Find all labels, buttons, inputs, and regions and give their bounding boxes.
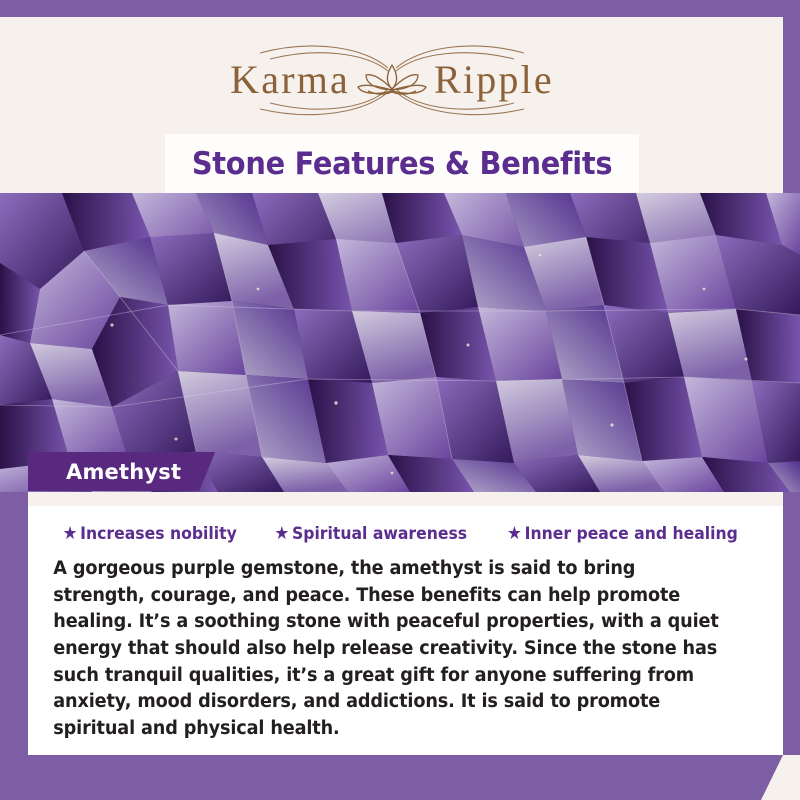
page-title: Stone Features & Benefits	[192, 146, 612, 182]
footer-bar	[0, 755, 800, 800]
benefit-label: Inner peace and healing	[525, 524, 738, 544]
section-title-bar: Stone Features & Benefits	[165, 134, 639, 193]
footer-bar-fill	[0, 755, 783, 800]
frame-right-border-upper	[783, 0, 800, 193]
benefit-item-0: ★ Increases nobility	[62, 524, 236, 544]
benefit-label: Spiritual awareness	[292, 524, 467, 544]
benefit-item-1: ★ Spiritual awareness	[274, 524, 467, 544]
stone-name-banner: Amethyst	[28, 452, 215, 491]
benefits-list: ★ Increases nobility ★ Spiritual awarene…	[38, 524, 765, 544]
product-info-card: Karma Ripple Stone Features & Benefits	[0, 0, 800, 800]
brand-name-left: Karma	[230, 57, 350, 102]
lotus-icon	[358, 65, 426, 94]
stone-name-label: Amethyst	[66, 460, 181, 484]
brand-logo-graphic: Karma Ripple	[182, 37, 602, 123]
photo-bottom-seam	[28, 492, 783, 506]
content-panel: ★ Increases nobility ★ Spiritual awarene…	[28, 506, 783, 755]
crystal-photo-graphic	[0, 193, 800, 492]
frame-left-border	[0, 492, 28, 800]
star-icon: ★	[508, 525, 523, 543]
star-icon: ★	[62, 525, 77, 543]
stone-description: A gorgeous purple gemstone, the amethyst…	[38, 556, 732, 742]
frame-right-border-lower	[783, 492, 800, 755]
amethyst-crystal-photo	[0, 193, 800, 492]
star-icon: ★	[274, 525, 289, 543]
brand-name-right: Ripple	[434, 57, 554, 102]
frame-top-border	[0, 0, 800, 17]
benefit-label: Increases nobility	[80, 524, 237, 544]
benefit-item-2: ★ Inner peace and healing	[508, 524, 739, 544]
brand-logo: Karma Ripple	[0, 37, 783, 123]
